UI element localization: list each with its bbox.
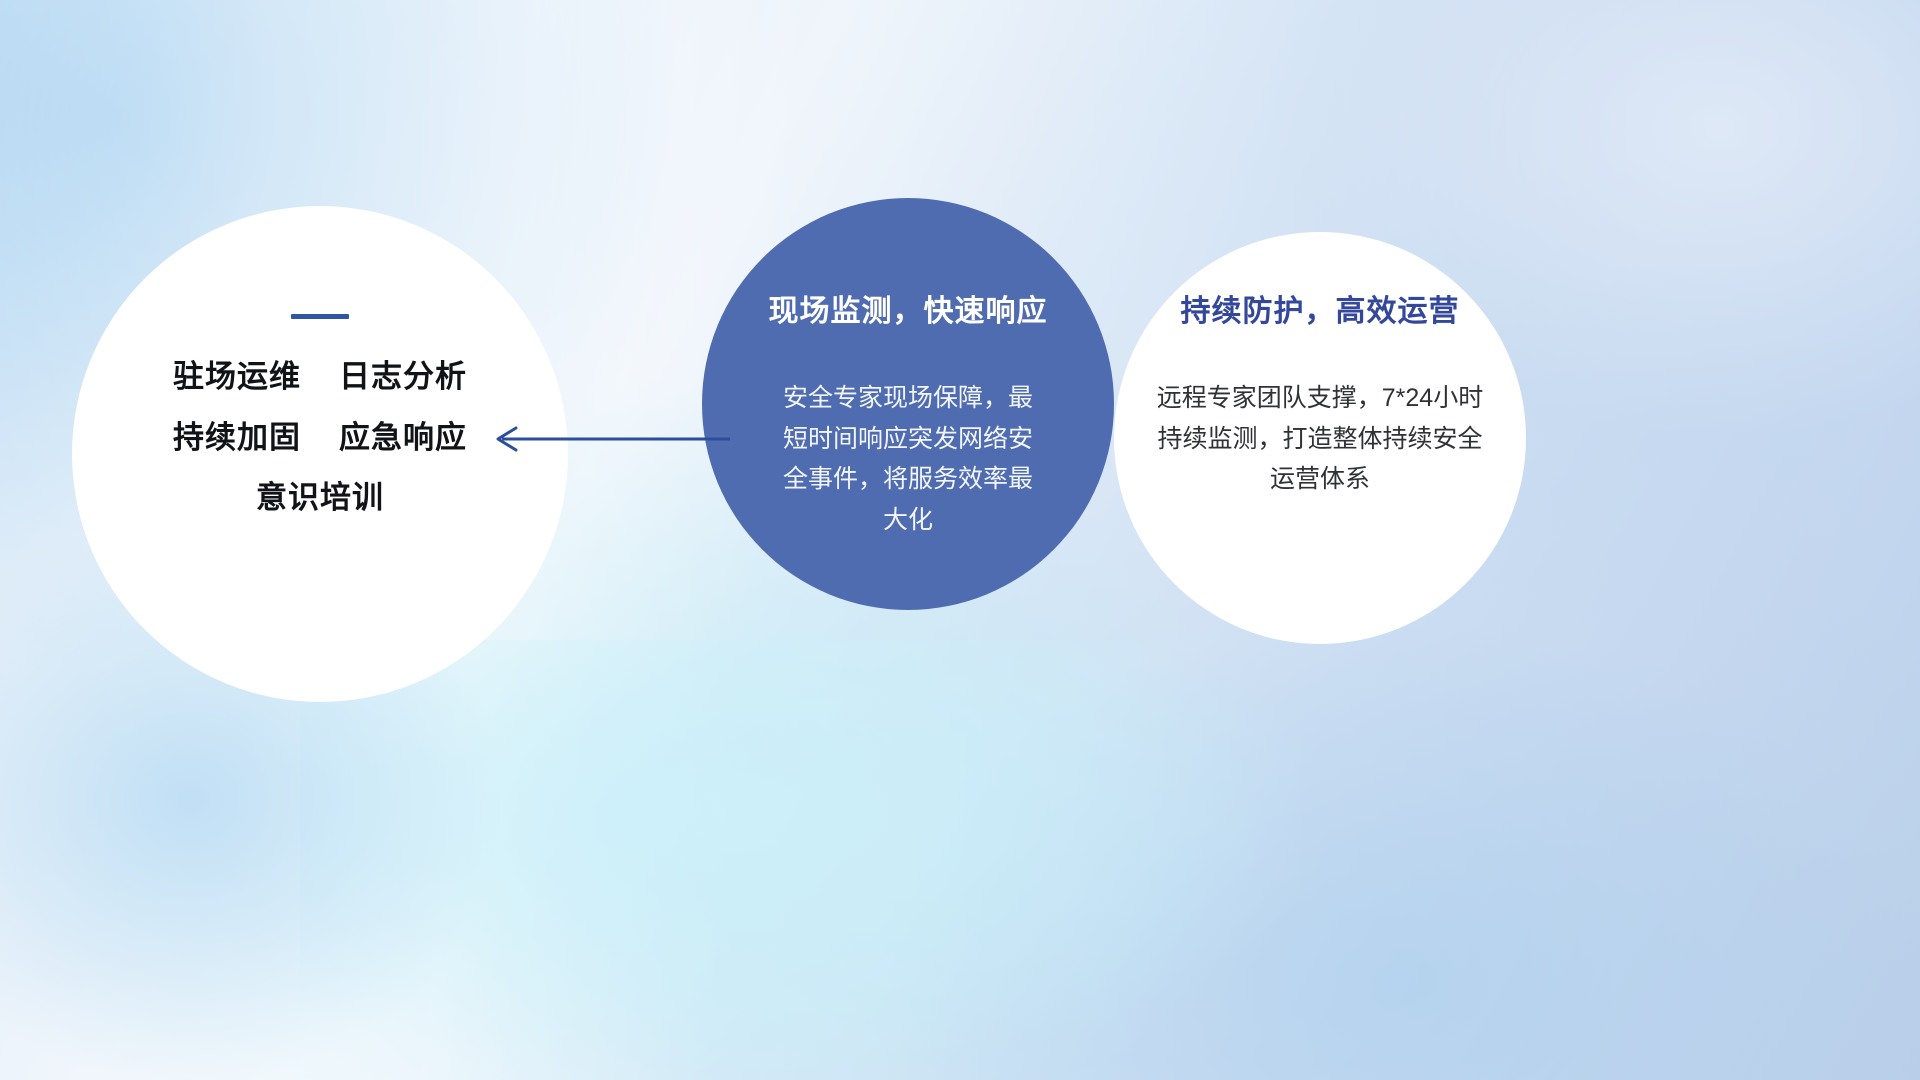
onsite-card-title: 现场监测，快速响应 (769, 286, 1048, 330)
divider-dash (291, 314, 349, 319)
practice-tag: 应急响应 (339, 422, 467, 455)
practice-row: 意识培训 (256, 482, 384, 515)
practice-tag: 意识培训 (256, 482, 384, 515)
practice-tag: 驻场运维 (173, 361, 301, 394)
onsite-monitoring-circle: 现场监测，快速响应 安全专家现场保障，最短时间响应突发网络安全事件，将服务效率最… (702, 198, 1114, 610)
slide-canvas: 驻场运维 日志分析 持续加固 应急响应 意识培训 现场监测，快速响应 安全专家现… (0, 0, 1920, 1080)
practice-row: 驻场运维 日志分析 (173, 361, 467, 394)
practice-tag: 日志分析 (339, 361, 467, 394)
remote-card-body: 远程专家团队支撑，7*24小时持续监测，打造整体持续安全运营体系 (1155, 378, 1485, 500)
onsite-card-body: 安全专家现场保障，最短时间响应突发网络安全事件，将服务效率最大化 (774, 378, 1042, 540)
remote-operations-circle: 持续防护，高效运营 远程专家团队支撑，7*24小时持续监测，打造整体持续安全运营… (1114, 232, 1526, 644)
practice-tag: 持续加固 (173, 422, 301, 455)
background-glow-bottom (300, 640, 1300, 1070)
flow-arrow-left-icon (480, 418, 730, 460)
remote-card-title: 持续防护，高效运营 (1181, 286, 1460, 330)
practice-row: 持续加固 应急响应 (173, 422, 467, 455)
